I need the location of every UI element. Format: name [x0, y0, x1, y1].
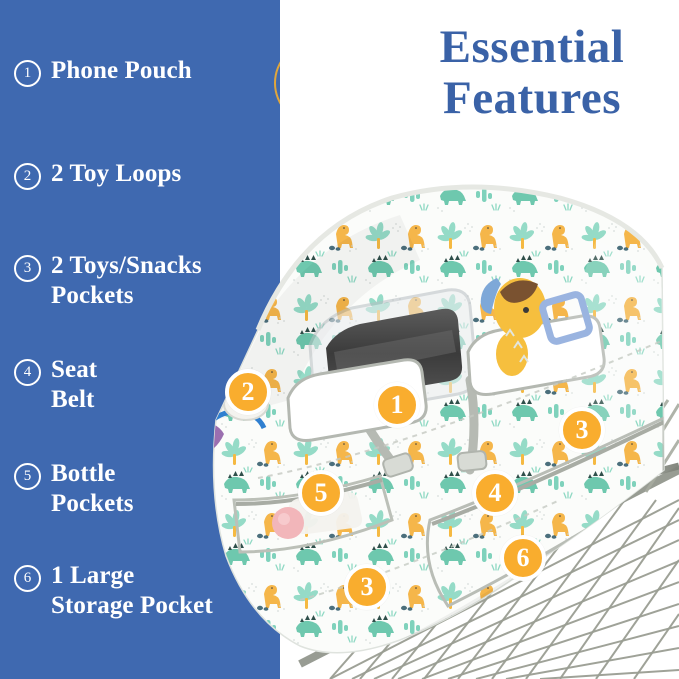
feature-item-2: 2 2 Toy Loops [14, 159, 181, 190]
callout-badge-bottle-pockets: 5 [298, 470, 344, 516]
feature-number-badge-1: 1 [14, 60, 41, 87]
feature-item-4: 4 Seat Belt [14, 355, 97, 414]
feature-label-3: 2 Toys/Snacks Pockets [51, 251, 202, 310]
feature-number-badge-6: 6 [14, 565, 41, 592]
callout-badge-toys-snacks-bottom: 3 [344, 564, 390, 610]
feature-label-2: 2 Toy Loops [51, 159, 181, 189]
feature-item-3: 3 2 Toys/Snacks Pockets [14, 251, 202, 310]
feature-item-1: 1 Phone Pouch [14, 56, 192, 87]
callout-badge-phone-pouch: 1 [374, 382, 420, 428]
feature-item-5: 5 Bottle Pockets [14, 459, 134, 518]
callout-badge-toys-snacks-right: 3 [559, 407, 605, 453]
callout-badge-seat-belt: 4 [472, 470, 518, 516]
feature-number-badge-4: 4 [14, 359, 41, 386]
page-title-line-2: Features [392, 73, 672, 124]
feature-number-badge-2: 2 [14, 163, 41, 190]
feature-label-5: Bottle Pockets [51, 459, 134, 518]
feature-label-1: Phone Pouch [51, 56, 192, 86]
feature-label-6: 1 Large Storage Pocket [51, 561, 213, 620]
callout-badge-storage-pocket: 6 [500, 535, 546, 581]
feature-item-6: 6 1 Large Storage Pocket [14, 561, 213, 620]
infographic-canvas: Essential Features 1 Phone Pouch 2 2 Toy… [0, 0, 679, 679]
feature-number-badge-3: 3 [14, 255, 41, 282]
callout-badge-toy-loops: 2 [225, 369, 271, 415]
page-title: Essential Features [392, 22, 672, 124]
feature-number-badge-5: 5 [14, 463, 41, 490]
page-title-line-1: Essential [392, 22, 672, 73]
feature-label-4: Seat Belt [51, 355, 97, 414]
